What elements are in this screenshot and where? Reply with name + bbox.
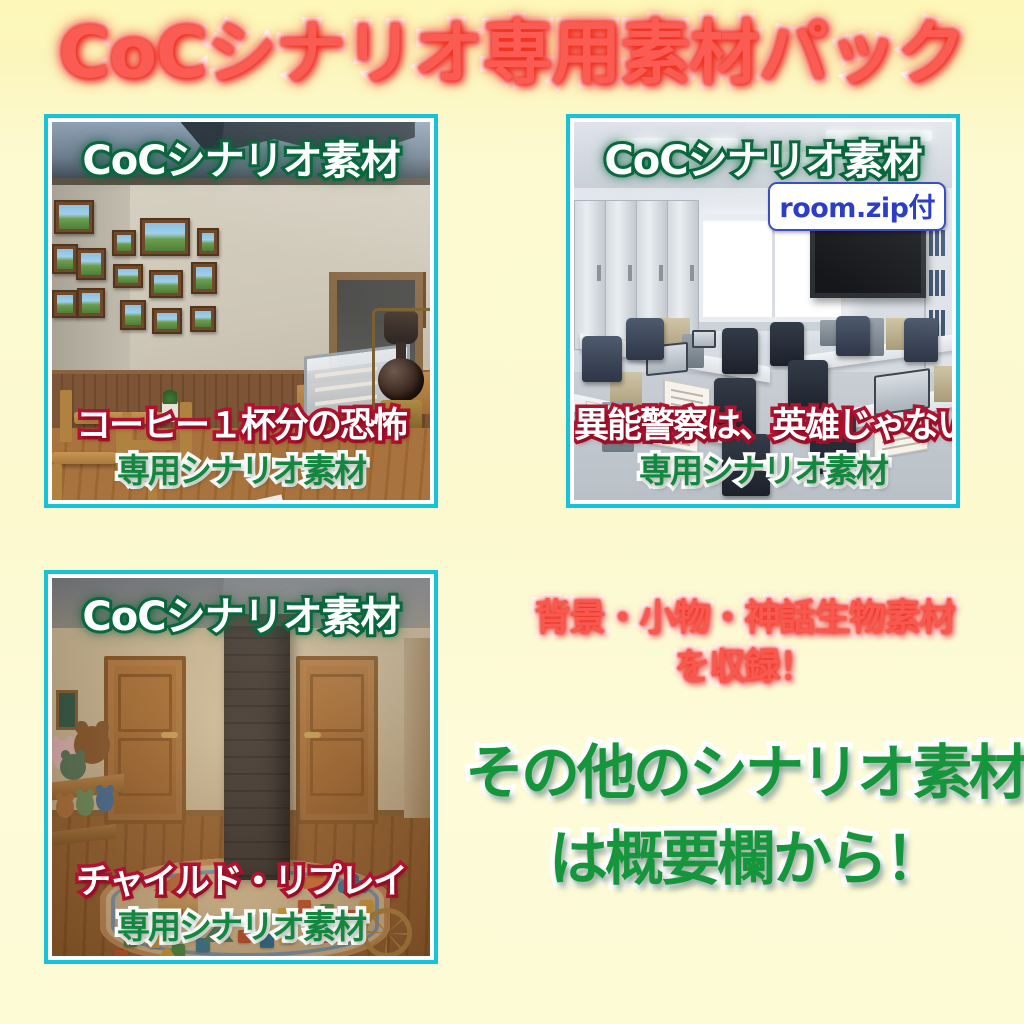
office-chair	[582, 336, 622, 382]
playroom-door-left	[104, 656, 186, 824]
wall-picture	[77, 288, 105, 318]
card-scenario-title: 異能警察は、英雄じゃない	[574, 397, 952, 448]
brick-pillar	[224, 622, 290, 880]
wall-picture	[112, 230, 136, 256]
office-locker	[574, 200, 606, 350]
siphon-flask	[378, 358, 424, 402]
page-title: CoCシナリオ専用素材パック	[0, 10, 1024, 98]
card-artwork-office: room.zip付 CoCシナリオ素材 異能警察は、英雄じゃない 専用シナリオ素…	[574, 122, 952, 500]
promo-contents-text: 背景・小物・神話生物素材 を収録！	[470, 594, 1018, 692]
scenario-card-cafe[interactable]: CoCシナリオ素材 コーヒー１杯分の恐怖 専用シナリオ素材	[44, 114, 438, 508]
wall-picture	[113, 264, 143, 288]
door-handle	[304, 732, 321, 738]
card-scenario-title: チャイルド・リプレイ	[52, 853, 430, 904]
card-artwork-cafe: CoCシナリオ素材 コーヒー１杯分の恐怖 専用シナリオ素材	[52, 122, 430, 500]
toy-block	[114, 950, 128, 956]
playroom-door-right	[296, 656, 378, 824]
office-chair	[904, 318, 938, 362]
wall-picture	[191, 262, 217, 294]
wall-picture	[120, 300, 146, 330]
wall-picture	[54, 200, 94, 234]
playroom-right-wall	[404, 638, 430, 818]
wall-picture	[152, 308, 182, 334]
promo-poster: CoCシナリオ専用素材パック	[0, 0, 1024, 1024]
doll	[96, 788, 114, 812]
card-subtitle-label: 専用シナリオ素材	[52, 900, 430, 948]
promo-contents-line2: を収録！	[470, 643, 1018, 692]
zip-attachment-badge: room.zip付	[768, 182, 946, 231]
wall-picture	[52, 290, 78, 318]
doll	[56, 796, 74, 818]
plush-bear-green	[60, 754, 86, 780]
card-header-label: CoCシナリオ素材	[52, 128, 430, 186]
wall-picture	[140, 218, 190, 256]
card-scenario-title: コーヒー１杯分の恐怖	[52, 397, 430, 448]
scenario-card-child[interactable]: CoCシナリオ素材 チャイルド・リプレイ 専用シナリオ素材	[44, 570, 438, 964]
card-subtitle-label: 専用シナリオ素材	[574, 444, 952, 492]
wall-picture	[52, 244, 78, 274]
laptop	[692, 330, 716, 348]
office-chair	[722, 328, 758, 374]
promo-cta-line1: その他のシナリオ素材	[450, 730, 1024, 816]
office-chair	[626, 318, 664, 360]
wall-picture	[149, 270, 183, 298]
card-header-label: CoCシナリオ素材	[574, 128, 952, 186]
promo-cta-line2: は概要欄から！	[450, 816, 1024, 902]
card-subtitle-label: 専用シナリオ素材	[52, 444, 430, 492]
card-header-label: CoCシナリオ素材	[52, 584, 430, 642]
door-handle	[161, 732, 178, 738]
card-artwork-child: CoCシナリオ素材 チャイルド・リプレイ 専用シナリオ素材	[52, 578, 430, 956]
promo-cta-text: その他のシナリオ素材 は概要欄から！	[450, 730, 1024, 901]
doll	[76, 792, 94, 816]
office-chair	[836, 316, 870, 356]
scenario-card-office[interactable]: room.zip付 CoCシナリオ素材 異能警察は、英雄じゃない 専用シナリオ素…	[566, 114, 960, 508]
wall-picture	[197, 228, 219, 256]
wall-picture	[190, 306, 216, 332]
siphon-upper-chamber	[384, 312, 418, 344]
promo-contents-line1: 背景・小物・神話生物素材	[470, 594, 1018, 643]
wall-picture	[76, 248, 106, 280]
